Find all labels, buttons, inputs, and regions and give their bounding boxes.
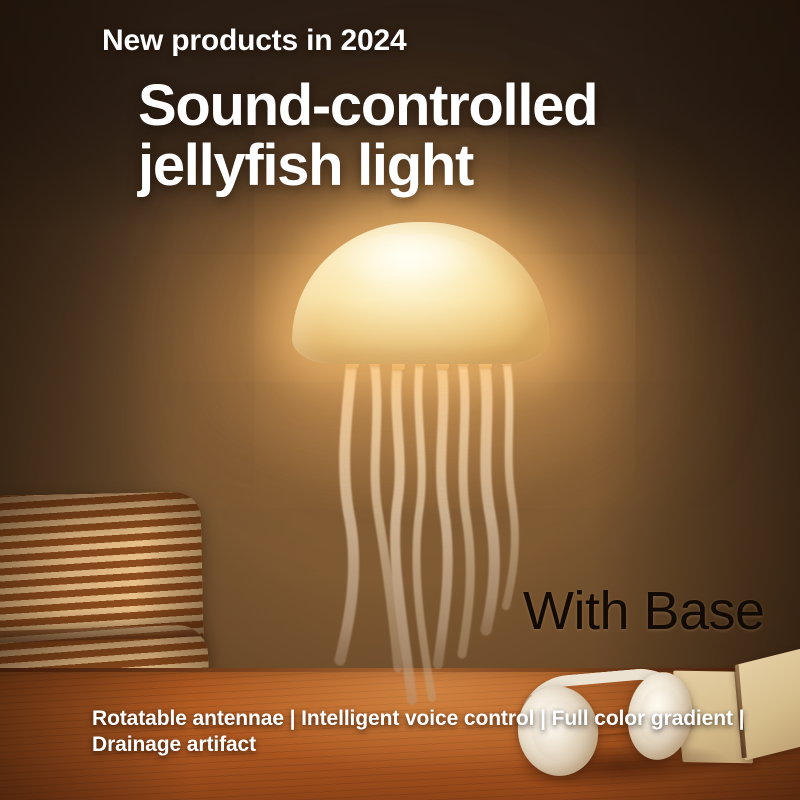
with-base-badge: With Base — [523, 580, 765, 642]
headline-line-1: Sound-controlled — [138, 73, 597, 138]
feature-list-text: Rotatable antennae | Intelligent voice c… — [92, 706, 752, 758]
product-advertisement-image: New products in 2024 Sound-controlled je… — [0, 0, 800, 800]
kicker-text: New products in 2024 — [102, 24, 406, 58]
headline-line-2: jellyfish light — [138, 136, 738, 196]
page-title: Sound-controlled jellyfish light — [138, 76, 738, 195]
